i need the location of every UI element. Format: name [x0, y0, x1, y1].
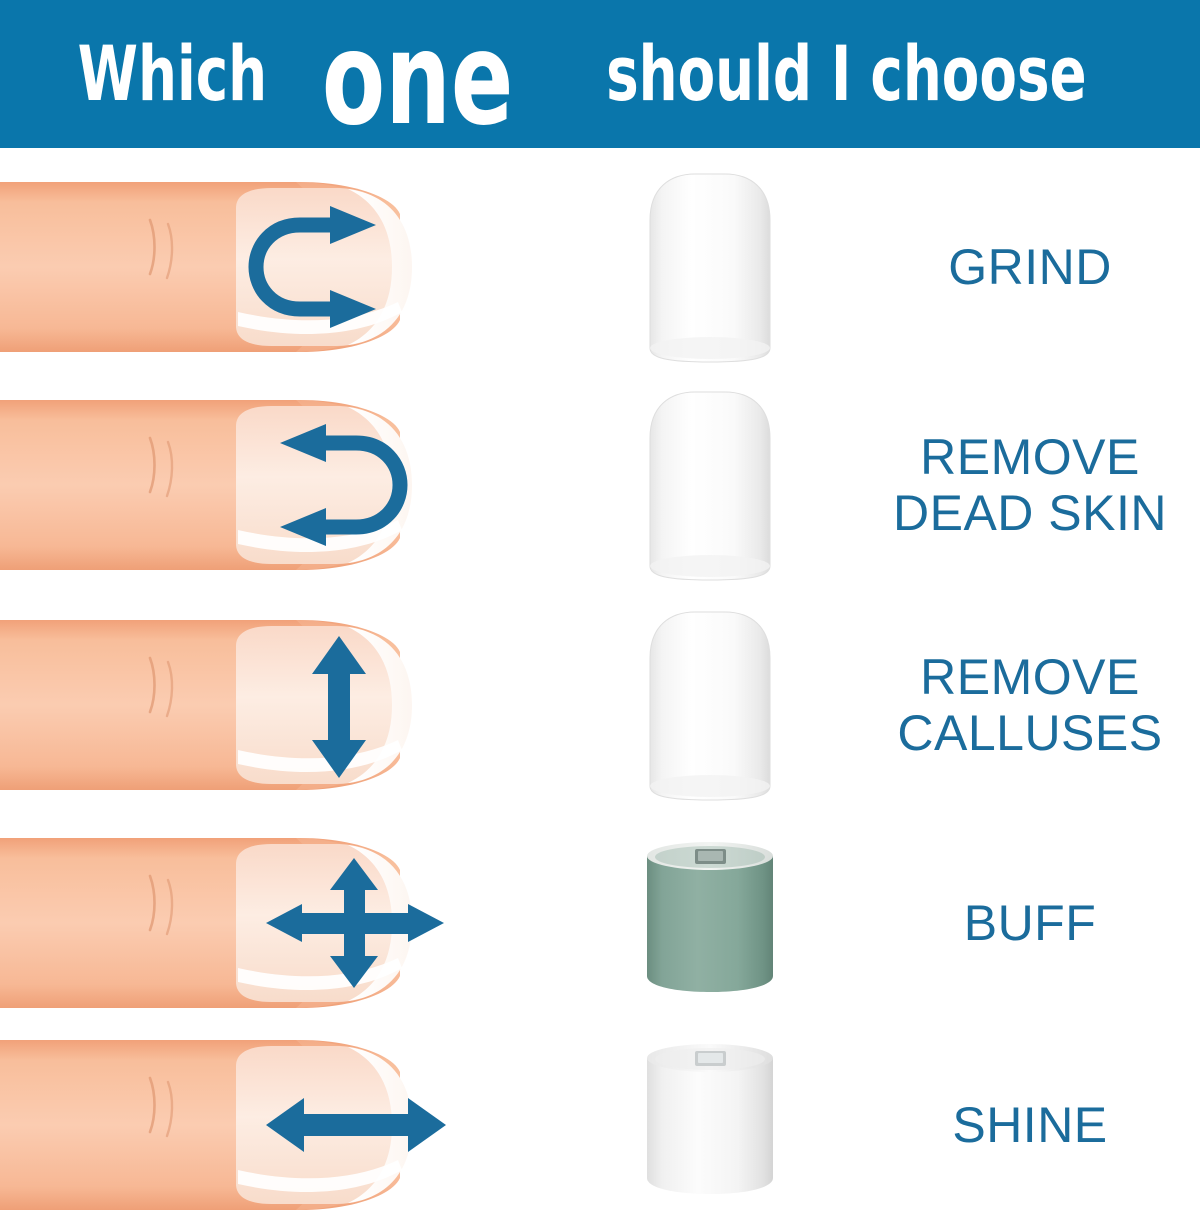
- bit-grind[interactable]: [560, 162, 860, 372]
- page-title: Which one should I choose: [0, 0, 1200, 148]
- finger-illustration-remove-dead-skin: [0, 380, 560, 590]
- finger-illustration-buff: [0, 818, 560, 1028]
- options-list: GRIND: [0, 152, 1200, 1200]
- option-row[interactable]: REMOVE CALLUSES: [0, 600, 1200, 810]
- label-buff: BUFF: [860, 818, 1200, 1028]
- label-remove-calluses: REMOVE CALLUSES: [860, 600, 1200, 810]
- bit-buff[interactable]: [560, 818, 860, 1028]
- option-row[interactable]: GRIND: [0, 162, 1200, 372]
- label-grind: GRIND: [860, 162, 1200, 372]
- header-banner: Which one should I choose: [0, 0, 1200, 148]
- option-row[interactable]: BUFF: [0, 818, 1200, 1028]
- option-row[interactable]: REMOVE DEAD SKIN: [0, 380, 1200, 590]
- option-label-line: DEAD SKIN: [893, 485, 1167, 541]
- bit-remove-calluses[interactable]: [560, 600, 860, 810]
- finger-illustration-remove-calluses: [0, 600, 560, 810]
- option-row[interactable]: SHINE: [0, 1020, 1200, 1230]
- option-label-line: BUFF: [964, 895, 1097, 951]
- option-label-line: REMOVE: [920, 429, 1140, 485]
- option-label-line: REMOVE: [920, 649, 1140, 705]
- label-remove-dead-skin: REMOVE DEAD SKIN: [860, 380, 1200, 590]
- option-label-line: SHINE: [952, 1097, 1107, 1153]
- bit-shine[interactable]: [560, 1020, 860, 1230]
- page-title-part-1: Which: [76, 36, 269, 112]
- option-label-line: CALLUSES: [897, 705, 1162, 761]
- label-shine: SHINE: [860, 1020, 1200, 1230]
- finger-illustration-grind: [0, 162, 560, 372]
- page-title-part-2: should I choose: [604, 36, 1088, 112]
- option-label-line: GRIND: [948, 239, 1112, 295]
- finger-illustration-shine: [0, 1020, 560, 1230]
- bit-remove-dead-skin[interactable]: [560, 380, 860, 590]
- page-title-emphasis: one: [318, 16, 519, 144]
